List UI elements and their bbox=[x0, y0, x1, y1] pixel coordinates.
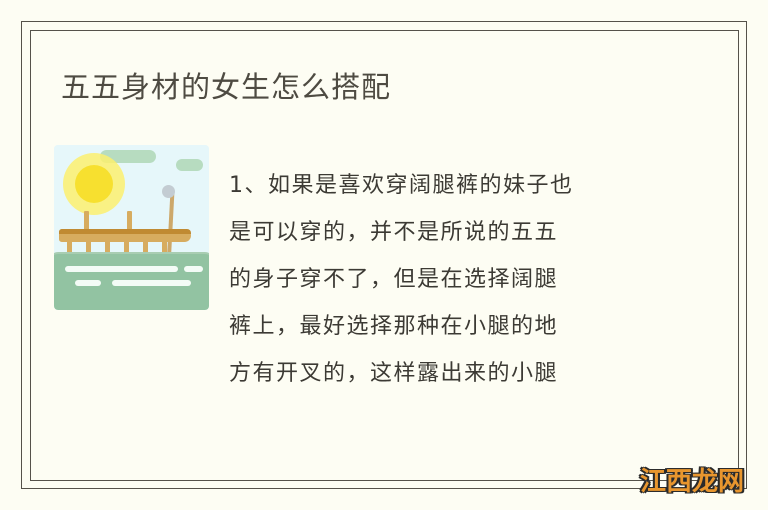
water-wave-line-2 bbox=[184, 266, 203, 272]
water-wave-line-3 bbox=[75, 280, 101, 286]
pier-railing-post-2 bbox=[127, 211, 132, 231]
pier-deck-edge bbox=[59, 229, 191, 234]
water-wave-line-4 bbox=[112, 280, 191, 286]
article-page: 五五身材的女生怎么搭配 1、如果是喜欢穿阔腿裤的妹子也 是可以穿的，并不是所说的… bbox=[0, 0, 768, 510]
cloud-icon-right bbox=[176, 159, 203, 171]
body-line: 的身子穿不了，但是在选择阔腿 bbox=[229, 256, 674, 303]
water-wave-line-1 bbox=[65, 266, 178, 272]
body-line: 1、如果是喜欢穿阔腿裤的妹子也 bbox=[229, 162, 674, 209]
page-title: 五五身材的女生怎么搭配 bbox=[61, 68, 391, 108]
article-illustration bbox=[54, 145, 209, 310]
article-body: 1、如果是喜欢穿阔腿裤的妹子也 是可以穿的，并不是所说的五五 的身子穿不了，但是… bbox=[229, 162, 674, 397]
body-line: 方有开叉的，这样露出来的小腿 bbox=[229, 350, 674, 397]
pier-railing-post-1 bbox=[84, 211, 89, 231]
lamp-post-light-icon bbox=[162, 185, 175, 198]
sun-icon bbox=[75, 165, 113, 203]
site-watermark: 江西龙网 bbox=[640, 467, 744, 497]
body-line: 裤上，最好选择那种在小腿的地 bbox=[229, 303, 674, 350]
body-line: 是可以穿的，并不是所说的五五 bbox=[229, 209, 674, 256]
